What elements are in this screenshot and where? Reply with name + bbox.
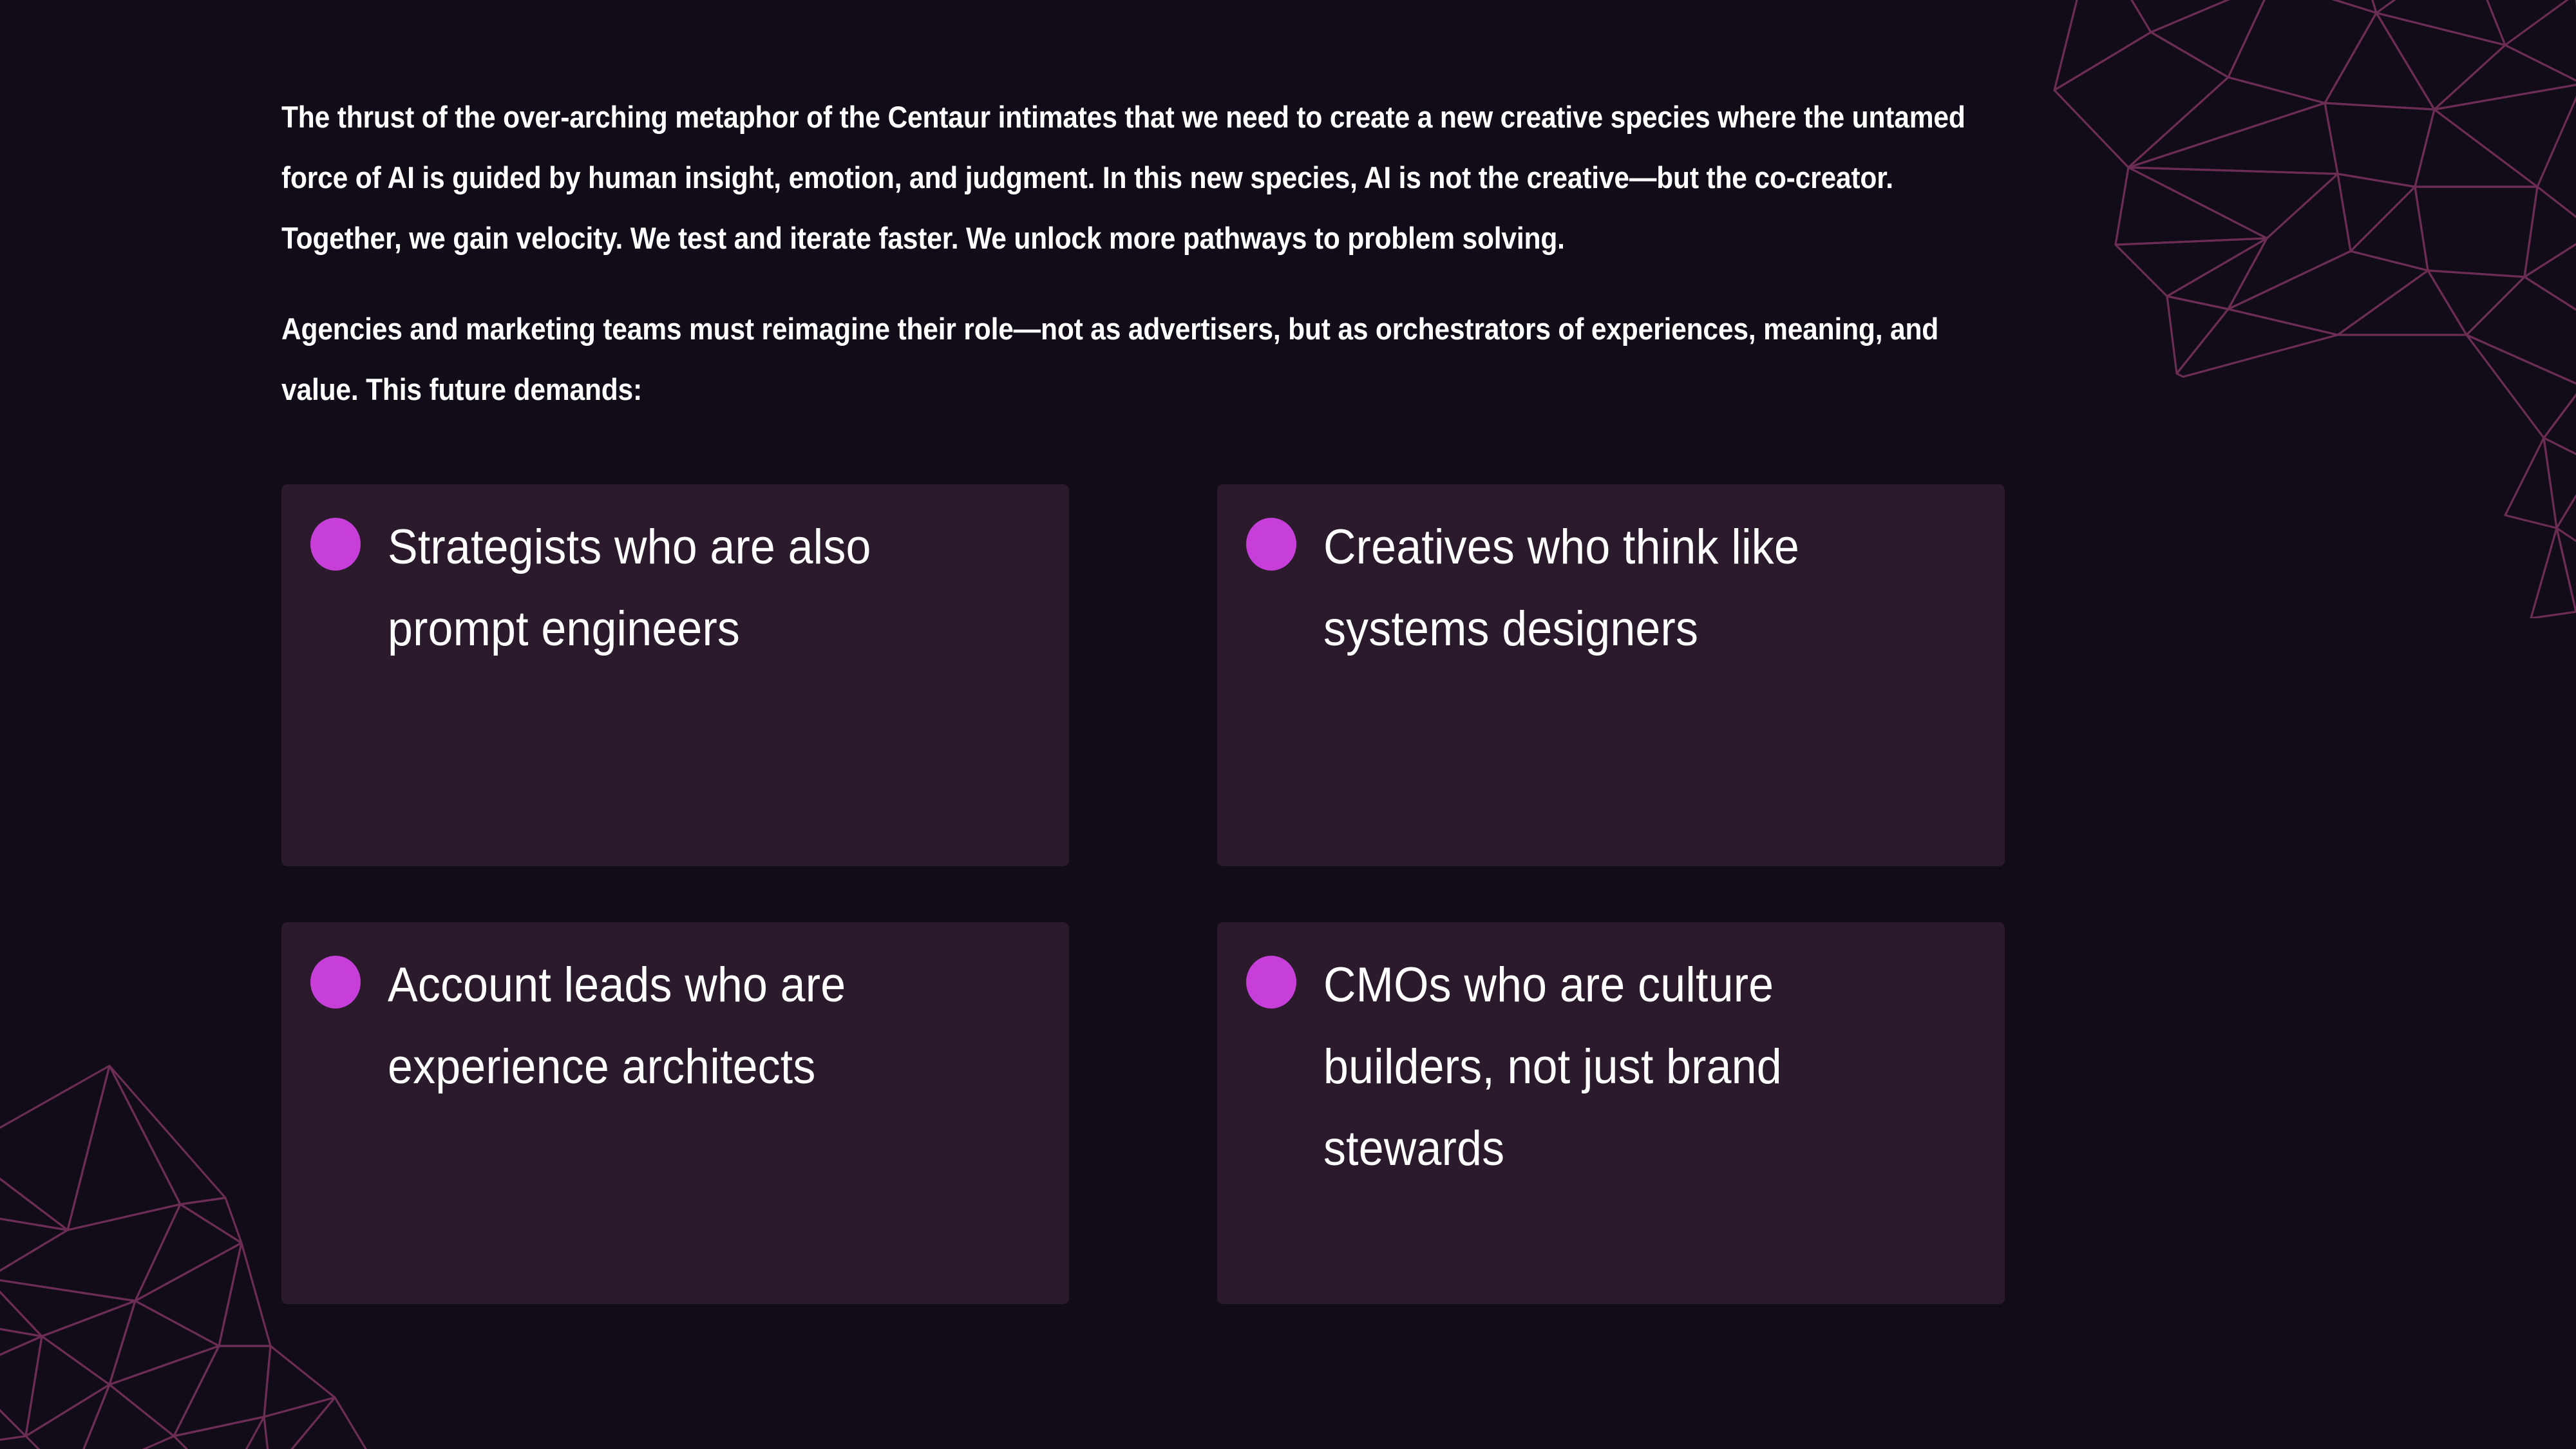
slide-canvas: The thrust of the over-arching metaphor … — [0, 0, 2576, 1449]
intro-paragraph-1: The thrust of the over-arching metaphor … — [281, 87, 1989, 269]
capability-card-title: CMOs who are culture builders, not just … — [1323, 944, 1920, 1189]
bullet-dot-icon — [1246, 956, 1296, 1009]
bullet-dot-icon — [310, 518, 361, 571]
intro-paragraph-2: Agencies and marketing teams must reimag… — [281, 299, 1989, 420]
bullet-dot-icon — [1246, 518, 1296, 571]
capability-card-strategists[interactable]: Strategists who are also prompt engineer… — [281, 484, 1069, 866]
capability-card-creatives[interactable]: Creatives who think like systems designe… — [1217, 484, 2005, 866]
bullet-dot-icon — [310, 956, 361, 1009]
capability-card-grid: Strategists who are also prompt engineer… — [281, 484, 2005, 1304]
capability-card-title: Account leads who are experience archite… — [388, 944, 984, 1108]
capability-card-title: Creatives who think like systems designe… — [1323, 506, 1920, 670]
capability-card-account-leads[interactable]: Account leads who are experience archite… — [281, 922, 1069, 1304]
capability-card-cmos[interactable]: CMOs who are culture builders, not just … — [1217, 922, 2005, 1304]
intro-copy: The thrust of the over-arching metaphor … — [281, 57, 2168, 450]
capability-card-title: Strategists who are also prompt engineer… — [388, 506, 984, 670]
